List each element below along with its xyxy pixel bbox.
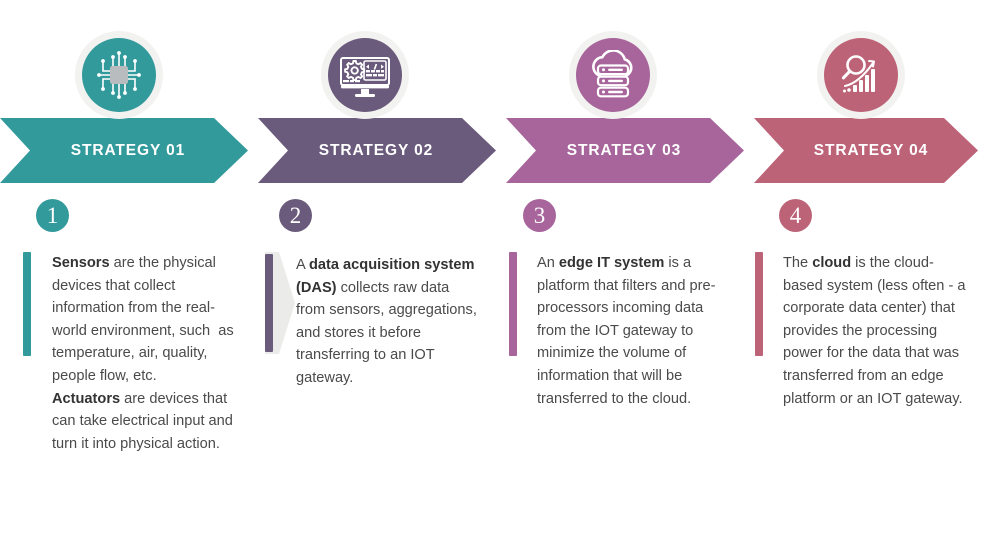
step-number-2: 2 (279, 199, 312, 232)
description-2: A data acquisition system (DAS) collects… (296, 254, 482, 390)
accent-bar-3 (509, 252, 517, 356)
step-number-label-4: 4 (790, 204, 802, 227)
banner-strategy-2: STRATEGY 02 (248, 118, 496, 183)
icon-badge-1 (75, 31, 163, 119)
step-number-1: 1 (36, 199, 69, 232)
banner-strategy-4: STRATEGY 04 (744, 118, 990, 183)
banner-label-1: STRATEGY 01 (71, 142, 185, 160)
step-number-label-2: 2 (290, 204, 302, 227)
banner-strategy-1: STRATEGY 01 (0, 118, 248, 183)
banner-label-3: STRATEGY 03 (567, 142, 681, 160)
accent-bar-4 (755, 252, 763, 356)
step-number-label-3: 3 (534, 204, 546, 227)
step-number-4: 4 (779, 199, 812, 232)
accent-bar-2 (265, 254, 273, 352)
step-number-label-1: 1 (47, 204, 59, 227)
monitor-gear-code-icon (340, 50, 390, 100)
cloud-server-icon (587, 50, 639, 100)
microchip-circuit-icon (93, 49, 145, 101)
magnifier-bar-chart-icon (836, 50, 886, 100)
infographic-canvas: STRATEGY 01 STRATEGY 02 STRATEGY 03 STRA… (0, 0, 990, 555)
banner-strategy-3: STRATEGY 03 (496, 118, 744, 183)
accent-bar-1 (23, 252, 31, 356)
step-number-3: 3 (523, 199, 556, 232)
banner-label-2: STRATEGY 02 (319, 142, 433, 160)
description-3: An edge IT system is a platform that fil… (537, 252, 723, 410)
description-4: The cloud is the cloud-based system (les… (783, 252, 969, 410)
description-1: Sensors are the physical devices that co… (52, 252, 238, 455)
icon-badge-2 (321, 31, 409, 119)
icon-badge-3 (569, 31, 657, 119)
banner-label-4: STRATEGY 04 (814, 142, 928, 160)
icon-badge-4 (817, 31, 905, 119)
